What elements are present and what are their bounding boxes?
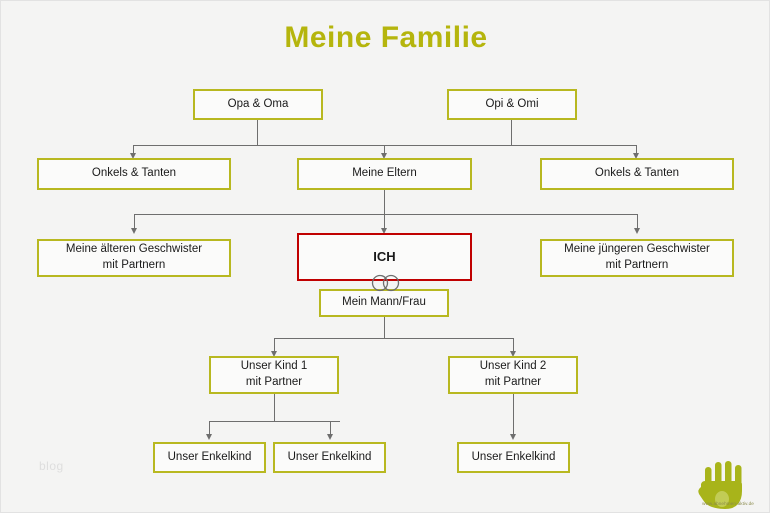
connector-drop-grandchild1 [209,421,210,434]
node-uncles-aunts-right[interactable]: Onkels & Tanten [540,158,734,190]
arrow-grandchild1 [206,434,212,440]
arrow-grandchild2 [327,434,333,440]
node-label-line2: mit Partner [242,375,306,391]
node-label: Unser Enkelkind [284,450,376,466]
connector-opa-oma-stem [257,120,258,145]
connector-drop-child2 [513,338,514,351]
node-label-line1: Unser Kind 2 [476,359,550,375]
connector-drop-child1 [274,338,275,351]
node-child-1[interactable]: Unser Kind 1 mit Partner [209,356,339,394]
node-label-line1: Meine jüngeren Geschwister [560,242,714,258]
connector-drop-me [384,214,385,228]
node-label: Meine Eltern [348,166,421,182]
connector-drop-grandchild2 [330,421,331,434]
connector-parents-stem [384,190,385,214]
node-label: Onkels & Tanten [88,166,180,182]
node-grandchild-3[interactable]: Unser Enkelkind [457,442,570,473]
connector-drop-older-siblings [134,214,135,228]
connector-bus-level2 [134,214,637,215]
node-label-line2: mit Partnern [602,258,673,274]
connector-opi-omi-stem [511,120,512,145]
node-label-line2: mit Partner [481,375,545,391]
node-label: ICH [369,248,399,266]
connector-bus-grandchildren [209,421,340,422]
connector-child1-stem [274,393,275,421]
connector-child2-stem [513,393,514,434]
node-label: Unser Enkelkind [468,450,560,466]
node-label: Opi & Omi [481,97,542,113]
node-grandparents-paternal[interactable]: Opa & Oma [193,89,323,120]
node-label: Unser Enkelkind [164,450,256,466]
node-grandparents-maternal[interactable]: Opi & Omi [447,89,577,120]
arrow-grandchild3 [510,434,516,440]
node-younger-siblings[interactable]: Meine jüngeren Geschwister mit Partnern [540,239,734,277]
blog-watermark: blog [39,459,64,473]
node-child-2[interactable]: Unser Kind 2 mit Partner [448,356,578,394]
arrow-older-siblings [131,228,137,234]
page-title: Meine Familie [1,21,770,55]
node-older-siblings[interactable]: Meine älteren Geschwister mit Partnern [37,239,231,277]
node-label: Mein Mann/Frau [338,295,430,311]
node-uncles-aunts-left[interactable]: Onkels & Tanten [37,158,231,190]
node-grandchild-1[interactable]: Unser Enkelkind [153,442,266,473]
family-tree-canvas: Meine Familie Opa & Oma Opi & Omi Onkels… [0,0,770,513]
node-label-line1: Meine älteren Geschwister [62,242,206,258]
arrow-younger-siblings [634,228,640,234]
connector-spouse-stem [384,316,385,338]
node-label: Opa & Oma [224,97,293,113]
connector-bus-children [274,338,514,339]
node-grandchild-2[interactable]: Unser Enkelkind [273,442,386,473]
node-parents[interactable]: Meine Eltern [297,158,472,190]
node-spouse[interactable]: Mein Mann/Frau [319,289,449,317]
wedding-rings-icon [366,273,406,293]
connector-drop-younger-siblings [637,214,638,228]
logo-url-text: www.abnehmen-aktiv.de [689,501,767,506]
node-label-line2: mit Partnern [99,258,170,274]
node-label-line1: Unser Kind 1 [237,359,311,375]
node-label: Onkels & Tanten [591,166,683,182]
